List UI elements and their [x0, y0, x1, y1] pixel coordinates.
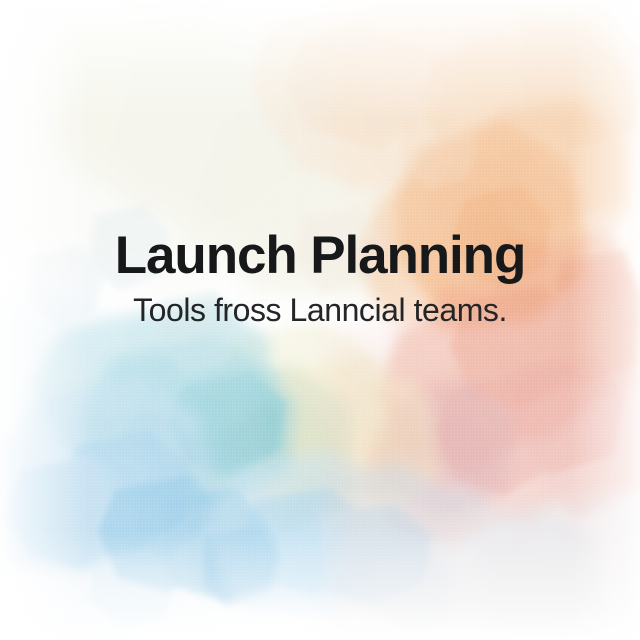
headline: Launch Planning: [0, 228, 640, 283]
top-edge-fade: [0, 0, 640, 120]
text-block: Launch Planning Tools fross Lanncial tea…: [0, 228, 640, 329]
subheadline: Tools fross Lanncial teams.: [0, 293, 640, 329]
poster-canvas: Launch Planning Tools fross Lanncial tea…: [0, 0, 640, 640]
bottom-edge-fade: [0, 530, 640, 640]
